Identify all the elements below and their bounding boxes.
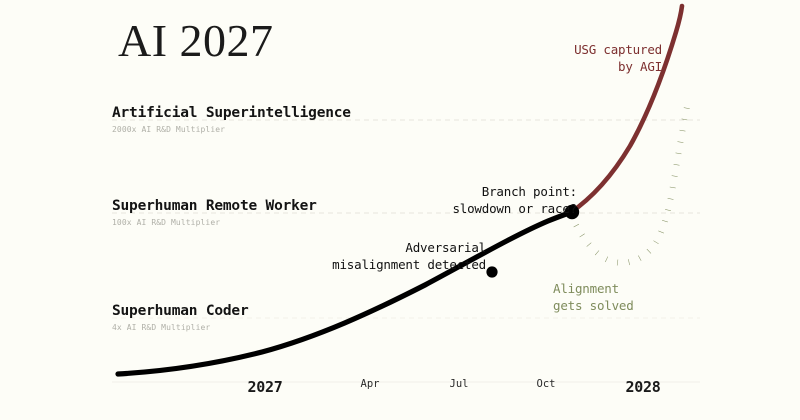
annotation-usg-captured-by-agi: USG captured by AGI — [574, 42, 662, 75]
series-race-branch — [570, 6, 682, 213]
x-tick-jul: Jul — [450, 378, 469, 390]
tier-superhuman-coder: Superhuman Coder 4x AI R&D Multiplier — [112, 303, 248, 332]
x-tick-oct: Oct — [537, 378, 556, 390]
ai-2027-capability-chart: AI 2027 Artificial Superintelligence 200… — [0, 0, 800, 420]
annotation-alignment-gets-solved: Alignment gets solved — [553, 281, 634, 314]
annotation-branch-point: Branch point: slowdown or race? — [437, 184, 577, 217]
tier-label-name: Superhuman Coder — [112, 303, 248, 319]
x-tick-2027: 2027 — [248, 378, 283, 396]
annotation-adversarial-misalignment: Adversarial misalignment detected — [318, 240, 486, 273]
tier-label-name: Artificial Superintelligence — [112, 105, 351, 121]
tier-artificial-superintelligence: Artificial Superintelligence 2000x AI R&… — [112, 105, 351, 134]
series-slowdown-branch — [571, 102, 688, 263]
x-tick-2028: 2028 — [626, 378, 661, 396]
tier-label-multiplier: 4x AI R&D Multiplier — [112, 323, 248, 332]
tier-superhuman-remote-worker: Superhuman Remote Worker 100x AI R&D Mul… — [112, 198, 317, 227]
tier-label-multiplier: 100x AI R&D Multiplier — [112, 218, 317, 227]
tier-label-name: Superhuman Remote Worker — [112, 198, 317, 214]
series-main-trajectory — [118, 212, 572, 374]
tier-label-multiplier: 2000x AI R&D Multiplier — [112, 125, 351, 134]
marker-adversarial-misalignment[interactable] — [486, 266, 497, 277]
x-tick-apr: Apr — [361, 378, 380, 390]
